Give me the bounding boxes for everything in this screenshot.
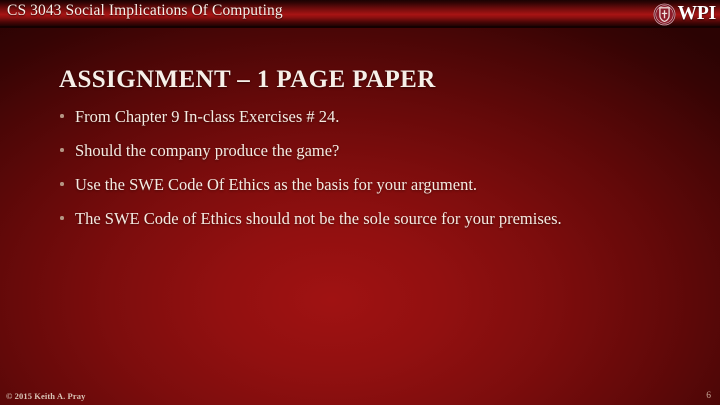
bullet-item: From Chapter 9 In-class Exercises # 24.	[56, 106, 656, 127]
course-title: CS 3043 Social Implications Of Computing	[7, 2, 283, 20]
presentation-slide: CS 3043 Social Implications Of Computing…	[0, 0, 720, 405]
bullet-item: The SWE Code of Ethics should not be the…	[56, 208, 656, 229]
bullet-item: Use the SWE Code Of Ethics as the basis …	[56, 174, 656, 195]
bullet-text: Use the SWE Code Of Ethics as the basis …	[75, 175, 477, 194]
bullet-text: From Chapter 9 In-class Exercises # 24.	[75, 107, 339, 126]
wpi-wordmark: WPI	[678, 4, 716, 24]
bullet-text: The SWE Code of Ethics should not be the…	[75, 209, 562, 228]
bullet-dot-icon	[60, 182, 64, 186]
bullet-dot-icon	[60, 216, 64, 220]
bullet-dot-icon	[60, 114, 64, 118]
wpi-logo: WPI	[653, 1, 716, 27]
slide-body-list: From Chapter 9 In-class Exercises # 24. …	[56, 106, 656, 229]
slide-page-number: 6	[706, 391, 711, 401]
footer-copyright: © 2015 Keith A. Pray	[6, 391, 85, 401]
slide-title: ASSIGNMENT – 1 PAGE PAPER	[59, 66, 436, 94]
slide-header-band: CS 3043 Social Implications Of Computing…	[0, 0, 720, 28]
bullet-item: Should the company produce the game?	[56, 140, 656, 161]
bullet-text: Should the company produce the game?	[75, 141, 339, 160]
wpi-seal-icon	[653, 3, 676, 26]
bullet-dot-icon	[60, 148, 64, 152]
